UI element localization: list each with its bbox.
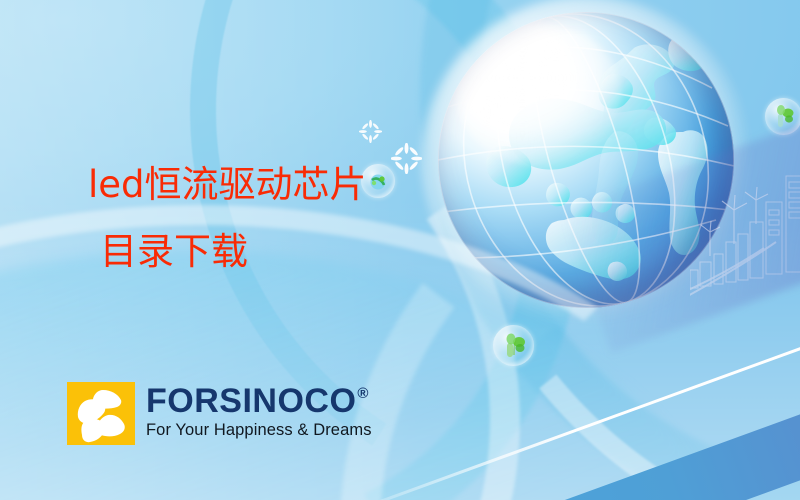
headline-line-2: 目录下载: [100, 233, 367, 270]
logo-tagline: For Your Happiness & Dreams: [146, 421, 372, 440]
sparkle-flower-icon: [359, 120, 382, 143]
four-petal-pinwheel-icon: [67, 382, 135, 445]
logo-wordmark-text: FORSINOCO: [146, 384, 356, 418]
company-logo: FORSINOCO ® For Your Happiness & Dreams: [67, 382, 372, 445]
headline-text: led恒流驱动芯片 目录下载: [88, 166, 367, 270]
green-sprout-icon: [493, 325, 534, 366]
logo-text-block: FORSINOCO ® For Your Happiness & Dreams: [146, 382, 372, 440]
bubble-with-sprout: [493, 325, 534, 366]
banner-image: led恒流驱动芯片 目录下载 FORSINOCO ® For Your Happ…: [0, 0, 800, 500]
logo-mark: [67, 382, 135, 445]
logo-wordmark: FORSINOCO ®: [146, 384, 372, 418]
registered-trademark-icon: ®: [357, 386, 369, 401]
sparkle-flower-icon: [391, 143, 422, 174]
headline-line-1: led恒流驱动芯片: [88, 166, 367, 203]
